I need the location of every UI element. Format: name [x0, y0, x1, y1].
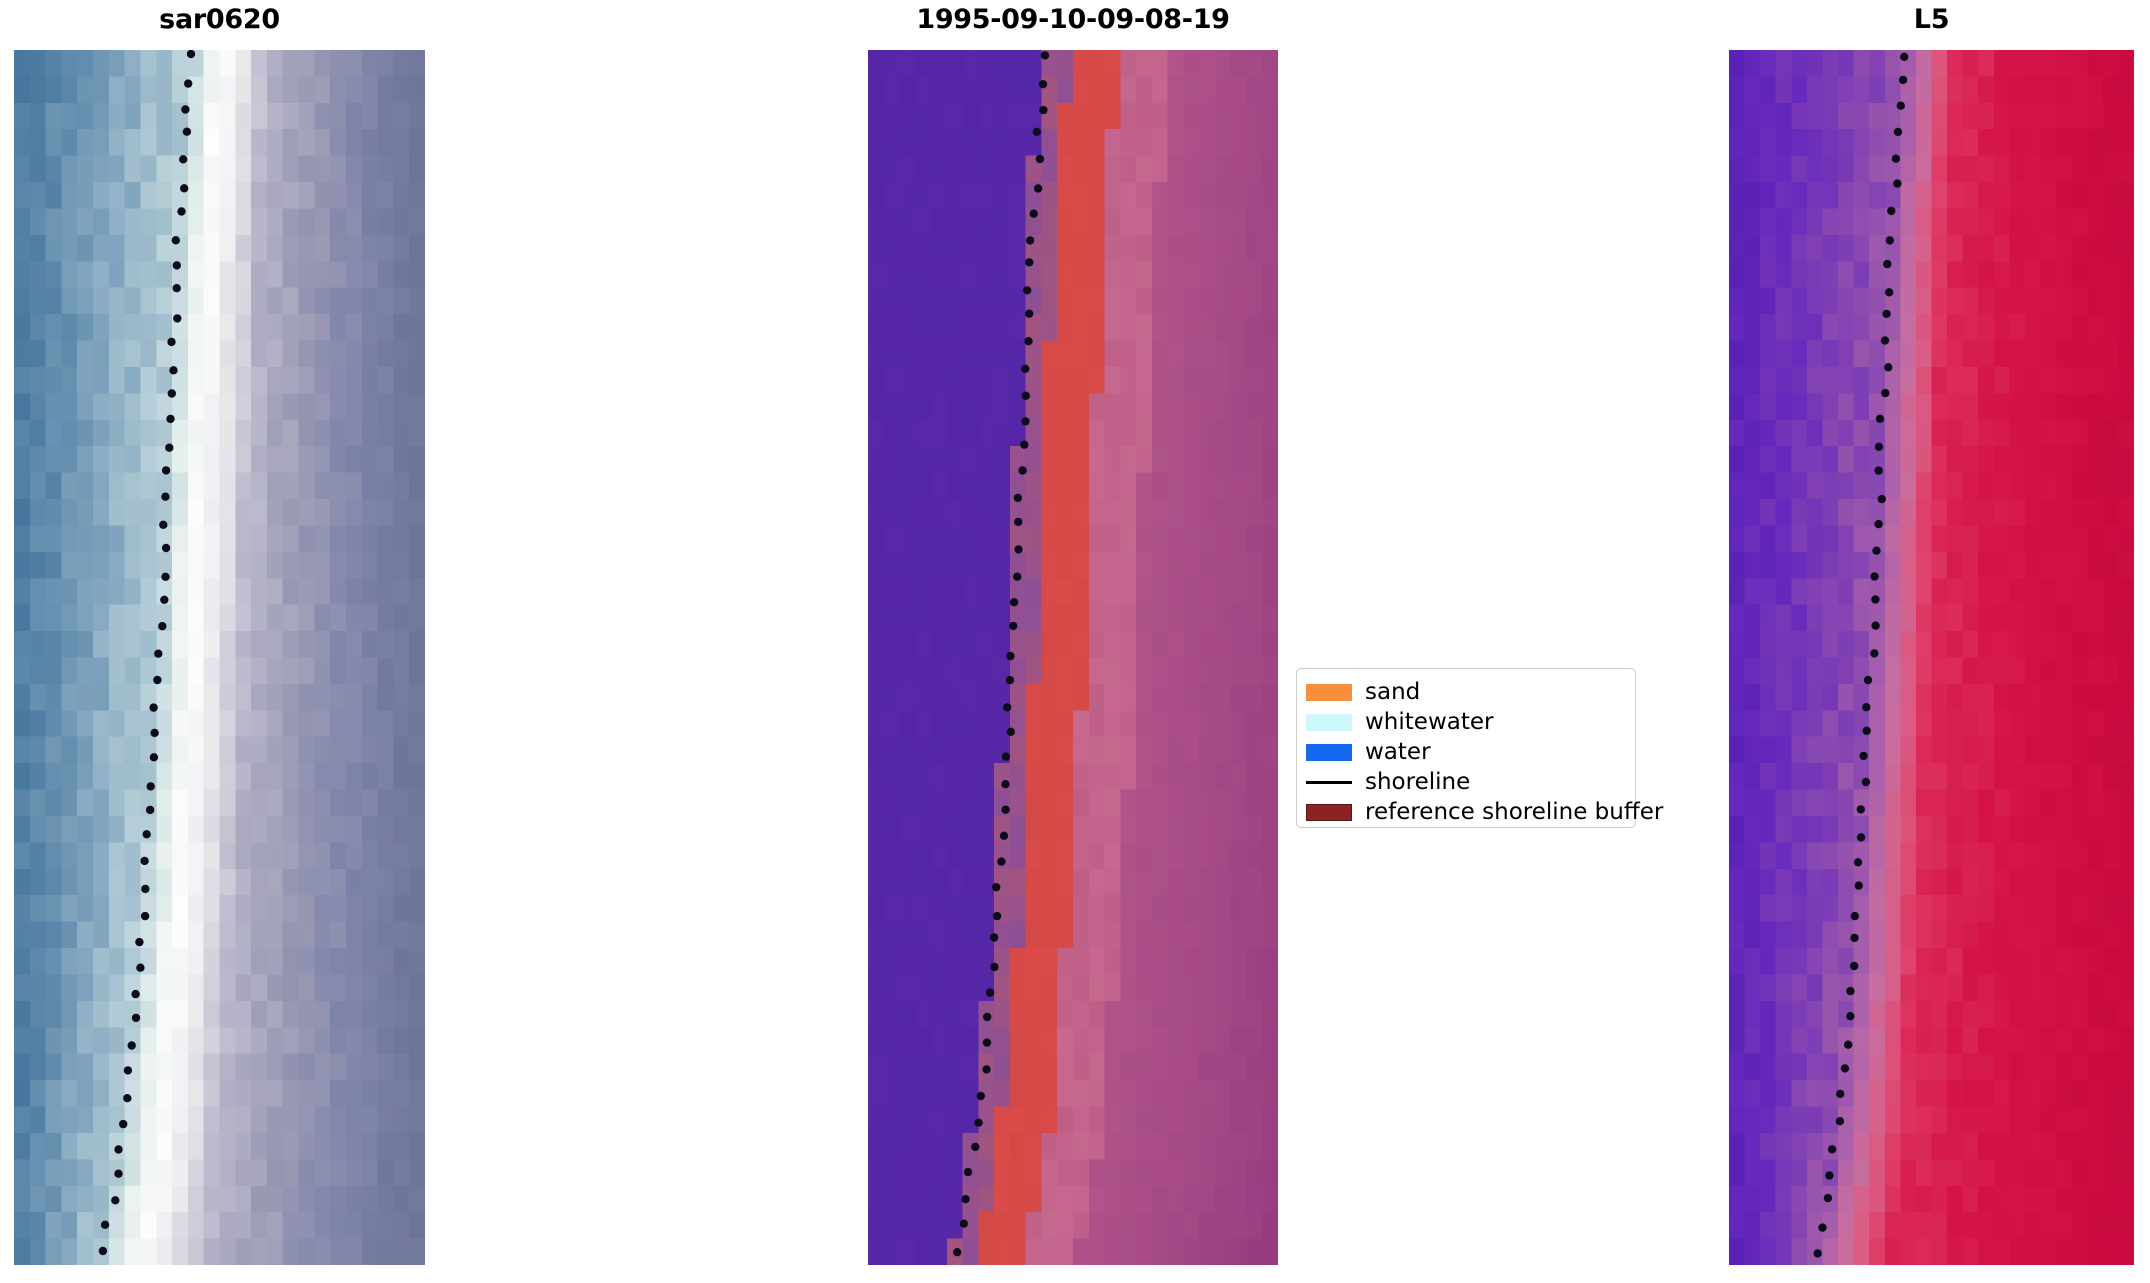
- legend-label: shoreline: [1365, 771, 1470, 794]
- legend-item-sand[interactable]: sand: [1306, 677, 1623, 707]
- legend-swatch-water-icon: [1306, 744, 1352, 761]
- legend-label: whitewater: [1365, 711, 1493, 734]
- legend-label: sand: [1365, 681, 1420, 704]
- legend-item-whitewater[interactable]: whitewater: [1306, 707, 1623, 737]
- panel-title-classification: 1995-09-10-09-08-19: [868, 4, 1278, 35]
- l5-image: [1729, 50, 2134, 1265]
- legend-label: water: [1365, 741, 1431, 764]
- classification-image: [868, 50, 1278, 1265]
- figure-canvas: sar0620 1995-09-10-09-08-19 L5 sandwhite…: [0, 0, 2150, 1283]
- legend-label: reference shoreline buffer: [1365, 801, 1663, 824]
- panel-l5[interactable]: [1729, 50, 2134, 1265]
- legend-swatch-whitewater-icon: [1306, 714, 1352, 731]
- panel-sar[interactable]: [14, 50, 425, 1265]
- panel-classification[interactable]: [868, 50, 1278, 1265]
- legend-box[interactable]: sandwhitewaterwatershorelinereference sh…: [1296, 668, 1636, 828]
- legend-item-reference-shoreline-buffer[interactable]: reference shoreline buffer: [1306, 797, 1623, 827]
- legend-swatch-shoreline-icon: [1306, 781, 1352, 784]
- legend-item-shoreline[interactable]: shoreline: [1306, 767, 1623, 797]
- legend-swatch-reference-shoreline-buffer-icon: [1306, 804, 1352, 821]
- legend-swatch-sand-icon: [1306, 684, 1352, 701]
- legend-item-water[interactable]: water: [1306, 737, 1623, 767]
- sar-image: [14, 50, 425, 1265]
- panel-title-sar: sar0620: [14, 4, 425, 35]
- panel-title-l5: L5: [1729, 4, 2134, 35]
